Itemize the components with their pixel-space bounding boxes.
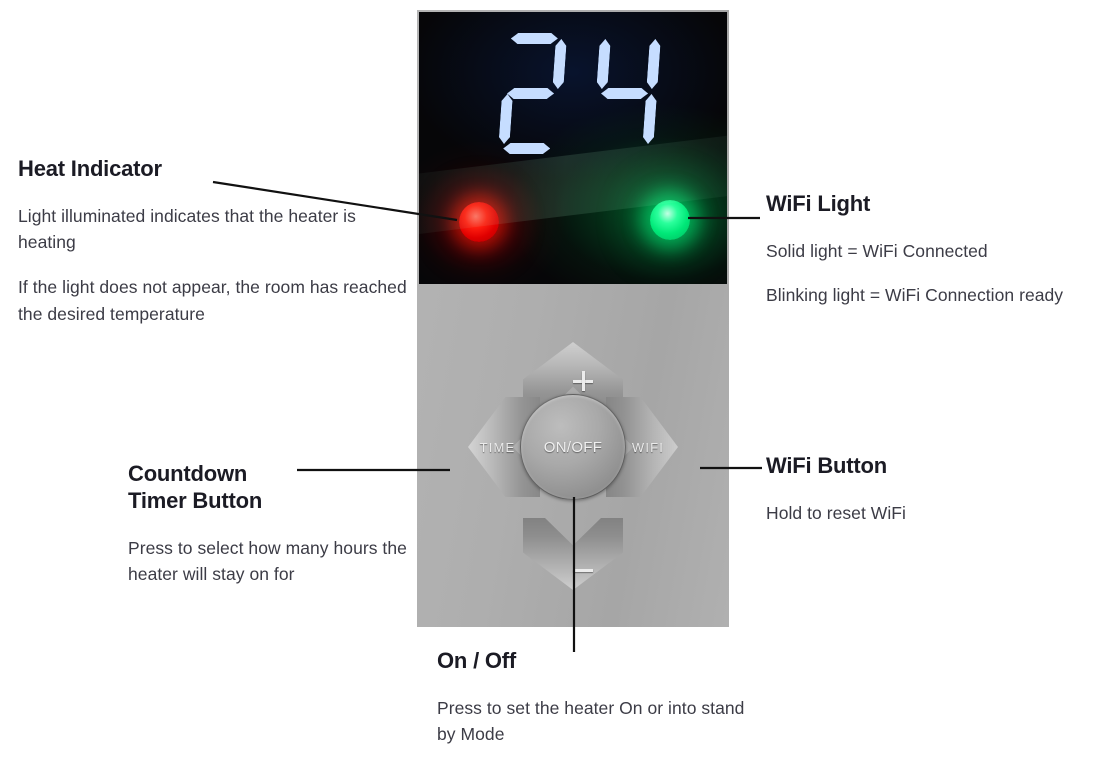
diagram-canvas: TIME WIFI ON/OFF Heat Indicator Light il… (0, 0, 1096, 761)
callout-title: WiFi Light (766, 191, 1096, 218)
led-display-screen (419, 12, 727, 284)
callout-heat-indicator: Heat Indicator Light illuminated indicat… (18, 156, 408, 327)
segment-g (601, 88, 649, 99)
callout-title-line-2: Timer Button (128, 488, 428, 515)
heater-control-panel: TIME WIFI ON/OFF (417, 10, 729, 627)
time-button-label: TIME (480, 440, 516, 455)
callout-body: Blinking light = WiFi Connection ready (766, 282, 1096, 309)
callout-title: On / Off (437, 648, 767, 675)
callout-wifi-button: WiFi Button Hold to reset WiFi (766, 453, 1086, 526)
heat-indicator-led (459, 202, 499, 242)
on-off-button-label: ON/OFF (544, 439, 602, 456)
callout-title-line-1: Countdown (128, 461, 428, 488)
callout-body: If the light does not appear, the room h… (18, 274, 408, 327)
callout-body: Hold to reset WiFi (766, 500, 1086, 527)
segment-e (499, 94, 513, 144)
callout-body: Solid light = WiFi Connected (766, 238, 1096, 265)
segment-g (507, 88, 555, 99)
temperature-readout (472, 28, 681, 160)
callout-body: Press to select how many hours the heate… (128, 535, 428, 588)
segment-d (503, 143, 551, 154)
callout-title: WiFi Button (766, 453, 1086, 480)
seven-segment-digit-2 (584, 31, 665, 157)
wifi-button-label: WIFI (632, 440, 664, 455)
callout-on-off: On / Off Press to set the heater On or i… (437, 648, 767, 748)
temperature-down-button[interactable] (523, 518, 623, 590)
callout-countdown-timer: Countdown Timer Button Press to select h… (128, 461, 428, 588)
wifi-light-led (650, 200, 690, 240)
callout-body: Press to set the heater On or into stand… (437, 695, 767, 748)
on-off-button[interactable]: ON/OFF (520, 394, 626, 500)
segment-c (643, 94, 657, 144)
button-pad: TIME WIFI ON/OFF (468, 342, 678, 590)
callout-title: Countdown Timer Button (128, 461, 428, 515)
segment-b (646, 39, 660, 89)
segment-b (552, 39, 566, 89)
callout-body: Light illuminated indicates that the hea… (18, 203, 408, 256)
callout-wifi-light: WiFi Light Solid light = WiFi Connected … (766, 191, 1096, 309)
segment-f (596, 39, 610, 89)
seven-segment-digit-1 (490, 31, 571, 157)
segment-a (510, 33, 558, 44)
callout-title: Heat Indicator (18, 156, 408, 183)
